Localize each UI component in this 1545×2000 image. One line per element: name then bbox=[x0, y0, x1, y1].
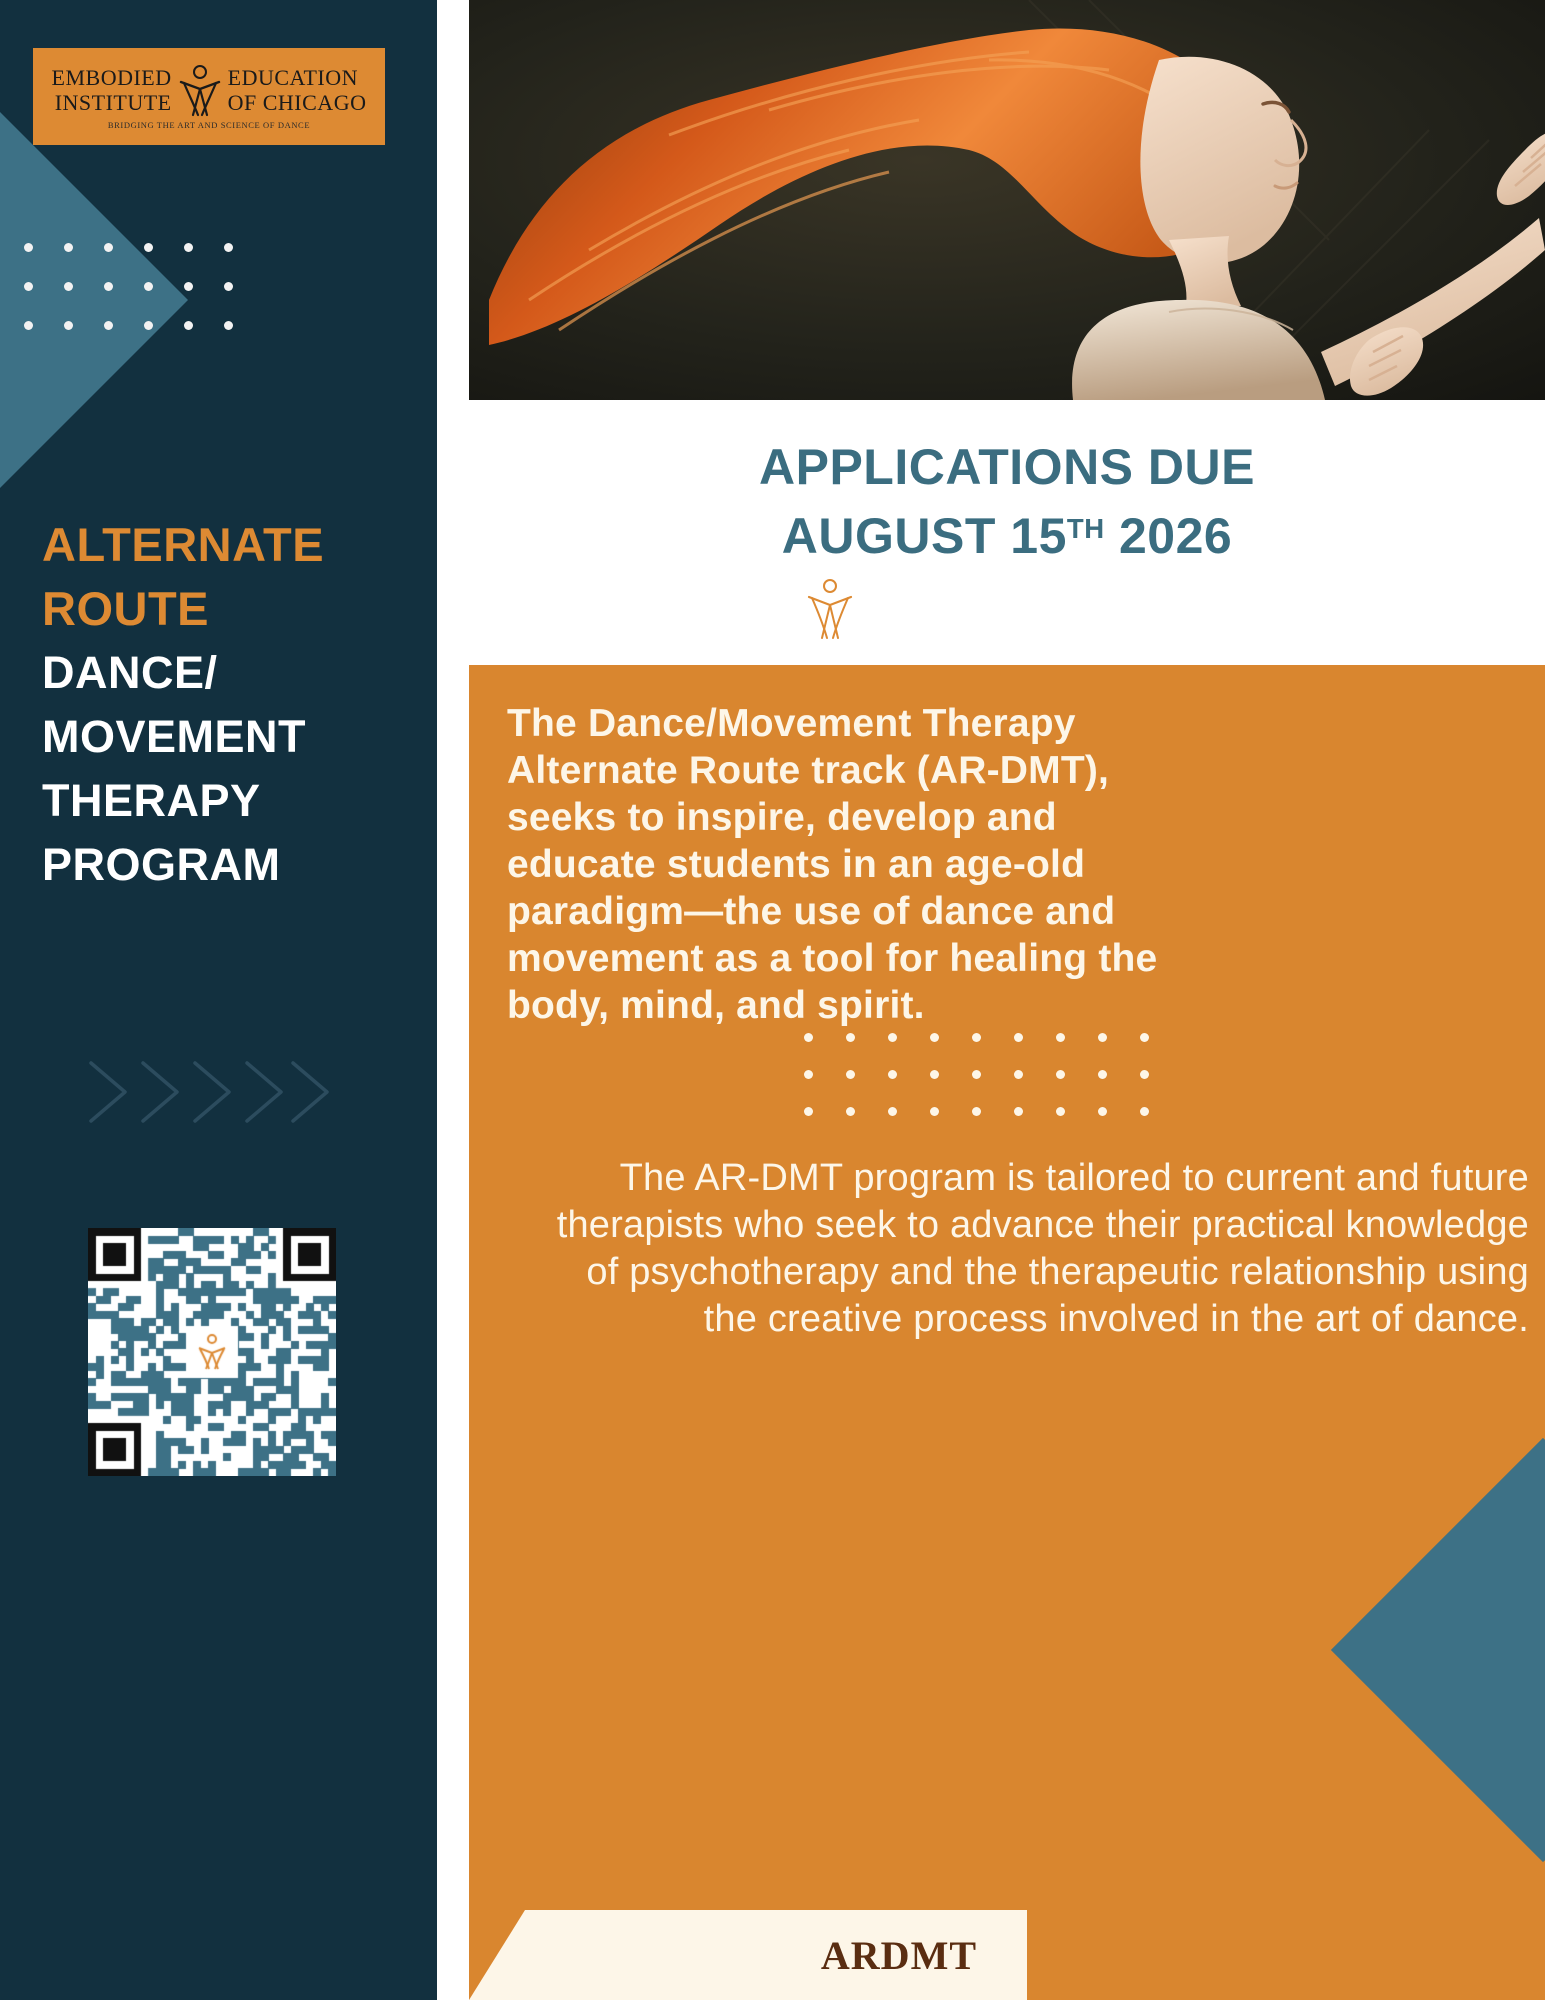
deadline-heading: APPLICATIONS DUE AUGUST 15TH 2026 bbox=[469, 437, 1545, 567]
deadline-ordinal: TH bbox=[1067, 513, 1105, 544]
deadline-line2: AUGUST 15TH 2026 bbox=[469, 498, 1545, 567]
deadline-year: 2026 bbox=[1119, 508, 1232, 564]
institute-logo: EMBODIED INSTITUTE EDUCATION OF CHICAGO … bbox=[33, 48, 385, 145]
program-title: ALTERNATE ROUTE DANCE/ MOVEMENT THERAPY … bbox=[42, 513, 412, 897]
ardmt-label: ARDMT bbox=[821, 1932, 977, 1979]
logo-wordmark-row: EMBODIED INSTITUTE EDUCATION OF CHICAGO bbox=[52, 63, 367, 117]
poster-root: EMBODIED INSTITUTE EDUCATION OF CHICAGO … bbox=[0, 0, 1545, 2000]
logo-line1-right: EDUCATION bbox=[228, 65, 367, 90]
logo-line2-right: OF CHICAGO bbox=[228, 90, 367, 115]
title-accent-line1: ALTERNATE bbox=[42, 513, 412, 577]
title-accent-line2: ROUTE bbox=[42, 577, 412, 641]
ardmt-badge: ARDMT bbox=[469, 1910, 1027, 2000]
qr-code[interactable] bbox=[88, 1228, 336, 1476]
left-panel: EMBODIED INSTITUTE EDUCATION OF CHICAGO … bbox=[0, 0, 437, 2000]
logo-line1-left: EMBODIED bbox=[52, 65, 172, 90]
logo-line2-left: INSTITUTE bbox=[52, 90, 172, 115]
logo-tagline: BRIDGING THE ART AND SCIENCE OF DANCE bbox=[108, 120, 310, 130]
title-line1: DANCE/ bbox=[42, 641, 412, 705]
title-line4: PROGRAM bbox=[42, 833, 412, 897]
title-line2: MOVEMENT bbox=[42, 705, 412, 769]
program-description-light: The AR-DMT program is tailored to curren… bbox=[529, 1155, 1529, 1343]
title-line3: THERAPY bbox=[42, 769, 412, 833]
logo-right-words: EDUCATION OF CHICAGO bbox=[228, 65, 367, 115]
deadline-line1: APPLICATIONS DUE bbox=[469, 437, 1545, 498]
description-panel: The Dance/Movement Therapy Alternate Rou… bbox=[469, 665, 1545, 2000]
program-description-bold: The Dance/Movement Therapy Alternate Rou… bbox=[507, 700, 1207, 1029]
logo-left-words: EMBODIED INSTITUTE bbox=[52, 65, 172, 115]
chevron-arrows-icon bbox=[85, 1055, 335, 1130]
dot-grid-decoration-left bbox=[24, 243, 264, 360]
dot-grid-decoration-right bbox=[804, 1033, 1182, 1144]
dancing-figure-icon-accent bbox=[806, 578, 854, 640]
dancer-photo bbox=[469, 0, 1545, 400]
teal-chevron-decoration-right bbox=[1331, 1438, 1545, 1862]
dancing-figure-icon bbox=[178, 63, 222, 117]
deadline-date: AUGUST 15 bbox=[782, 508, 1067, 564]
